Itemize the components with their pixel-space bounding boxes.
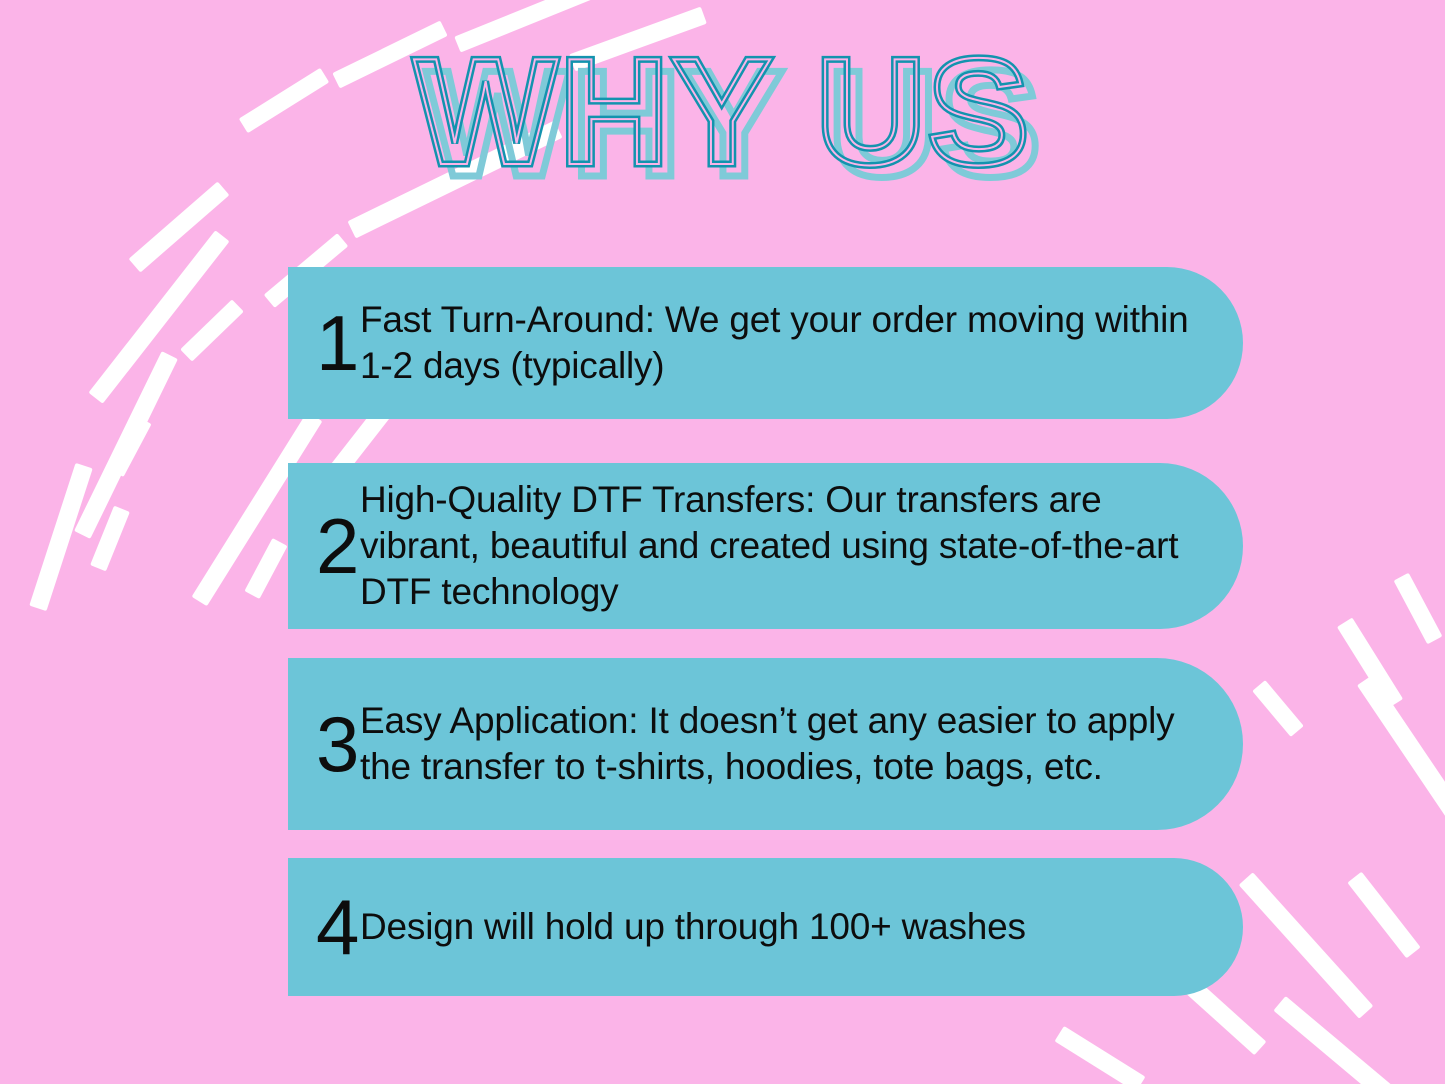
decorative-dash (29, 463, 92, 611)
poster-canvas: WHY US WHY US WHY US 1 Fast Turn-Around:… (0, 0, 1445, 1084)
benefit-number-1: 1 (288, 304, 360, 382)
decorative-dash (1239, 872, 1374, 1018)
benefit-number-3: 3 (288, 705, 360, 783)
benefit-text-4: Design will hold up through 100+ washes (360, 904, 1243, 950)
decorative-dash (1394, 573, 1443, 645)
benefit-card-4: 4 Design will hold up through 100+ washe… (288, 858, 1243, 996)
benefit-text-3: Easy Application: It doesn’t get any eas… (360, 698, 1243, 791)
decorative-dash (180, 299, 244, 361)
decorative-dash (244, 538, 287, 599)
decorative-dash (1347, 872, 1420, 959)
benefit-number-2: 2 (288, 507, 360, 585)
benefit-text-2: High-Quality DTF Transfers: Our transfer… (360, 477, 1243, 616)
page-title-inner-channel: WHY US (0, 36, 1445, 188)
benefit-number-4: 4 (288, 888, 360, 966)
page-title: WHY US WHY US WHY US (0, 36, 1445, 196)
decorative-dash (90, 506, 130, 572)
benefit-card-3: 3 Easy Application: It doesn’t get any e… (288, 658, 1243, 830)
decorative-dash (88, 230, 229, 403)
decorative-dash (1337, 618, 1403, 709)
decorative-dash (1357, 675, 1445, 885)
decorative-dash (1273, 996, 1400, 1084)
decorative-dash (108, 416, 151, 477)
benefit-text-1: Fast Turn-Around: We get your order movi… (360, 297, 1243, 390)
decorative-dash (1055, 1026, 1146, 1084)
decorative-dash (1252, 680, 1304, 737)
decorative-dash (74, 351, 178, 539)
benefit-card-1: 1 Fast Turn-Around: We get your order mo… (288, 267, 1243, 419)
benefit-card-2: 2 High-Quality DTF Transfers: Our transf… (288, 463, 1243, 629)
